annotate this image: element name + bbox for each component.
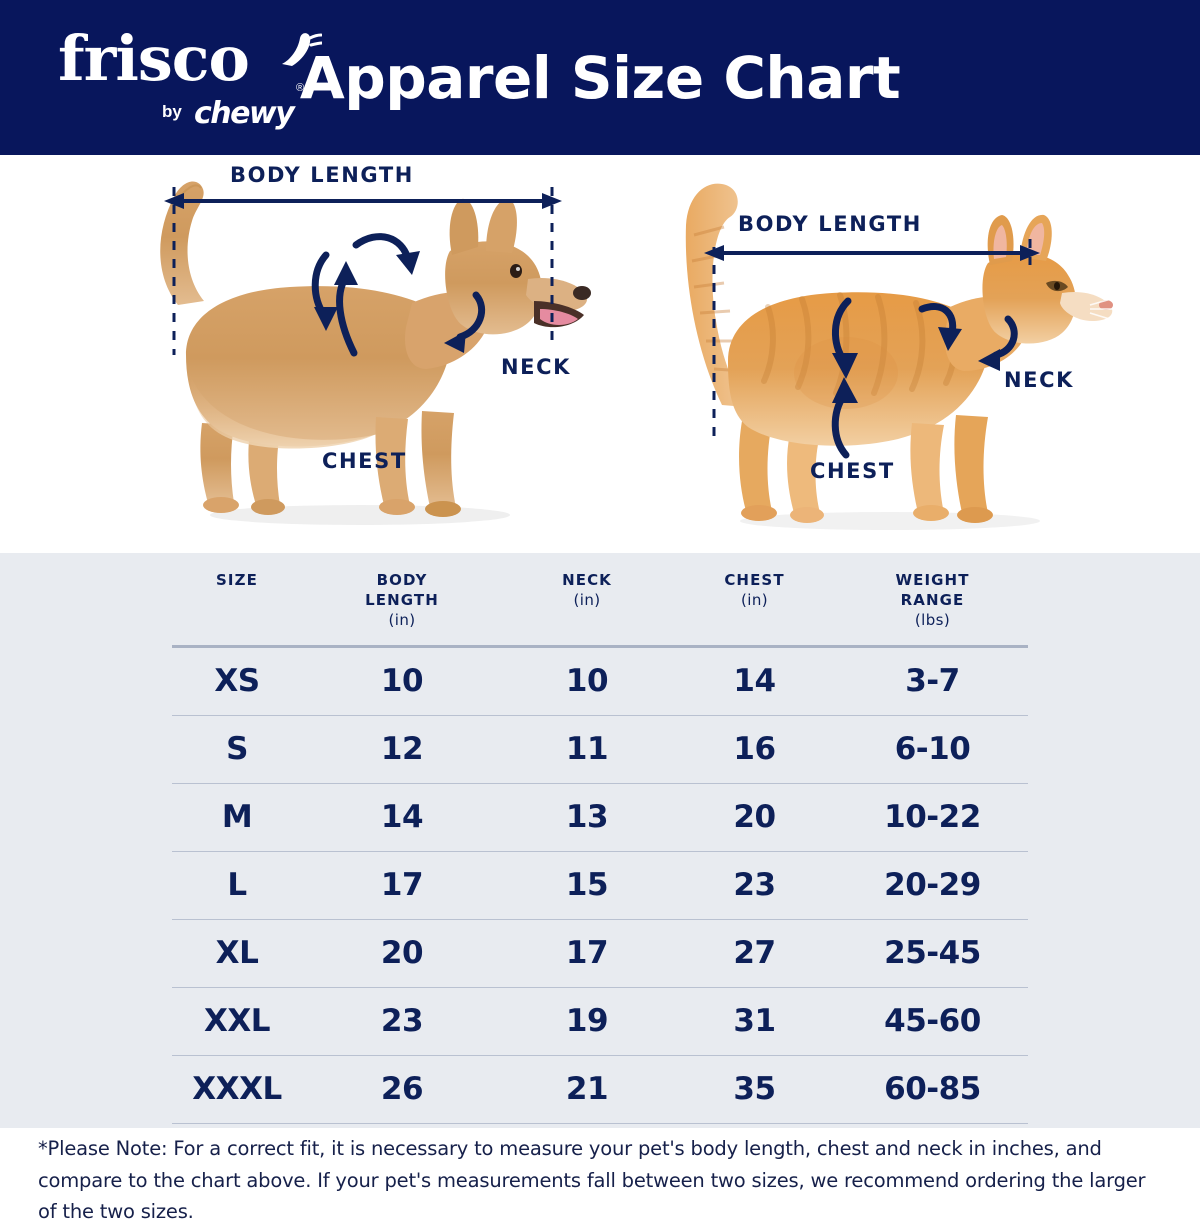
header-band: frisco ® by chewy Apparel Size Chart xyxy=(0,0,1200,155)
table-row: S 12 11 16 6-10 xyxy=(172,715,1028,783)
size-table-panel: SIZE BODY LENGTH (in) NECK (in) CHEST (i… xyxy=(0,553,1200,1128)
column-header-weight-line2: RANGE xyxy=(901,591,965,609)
column-header-chest-label: CHEST xyxy=(724,571,784,589)
cat-chest-arrow-bottom xyxy=(835,395,846,455)
cat-illustration-panel: BODY LENGTH NECK CHEST xyxy=(650,155,1120,553)
registered-trademark-icon: ® xyxy=(296,82,304,94)
dog-neck-label: NECK xyxy=(501,355,571,379)
cell-size: M xyxy=(172,783,302,851)
column-header-chest-unit: (in) xyxy=(672,591,837,611)
size-table-head: SIZE BODY LENGTH (in) NECK (in) CHEST (i… xyxy=(172,563,1028,646)
table-row: L 17 15 23 20-29 xyxy=(172,851,1028,919)
cell-neck: 21 xyxy=(502,1055,672,1123)
illustration-area: BODY LENGTH NECK CHEST xyxy=(0,155,1200,553)
table-row: M 14 13 20 10-22 xyxy=(172,783,1028,851)
cell-weight-range: 20-29 xyxy=(837,851,1028,919)
cell-body-length: 20 xyxy=(302,919,502,987)
column-header-neck-label: NECK xyxy=(562,571,612,589)
cell-size: XL xyxy=(172,919,302,987)
cell-size: XXXL xyxy=(172,1055,302,1123)
cell-neck: 11 xyxy=(502,715,672,783)
column-header-chest: CHEST (in) xyxy=(672,563,837,646)
cell-chest: 14 xyxy=(672,646,837,715)
cell-chest: 31 xyxy=(672,987,837,1055)
table-row: XXXL 26 21 35 60-85 xyxy=(172,1055,1028,1123)
cell-size: XS xyxy=(172,646,302,715)
cell-size: L xyxy=(172,851,302,919)
column-header-neck-unit: (in) xyxy=(502,591,672,611)
cell-size: XXL xyxy=(172,987,302,1055)
dog-body-length-label: BODY LENGTH xyxy=(230,163,414,187)
cell-weight-range: 10-22 xyxy=(837,783,1028,851)
cell-body-length: 10 xyxy=(302,646,502,715)
column-header-neck: NECK (in) xyxy=(502,563,672,646)
dog-illustration-panel: BODY LENGTH NECK CHEST xyxy=(130,155,600,553)
cell-weight-range: 6-10 xyxy=(837,715,1028,783)
dog-measurement-annotations xyxy=(130,155,600,553)
column-header-body-length-line1: BODY xyxy=(377,571,428,589)
frisco-logo[interactable]: frisco ® by chewy xyxy=(58,28,308,132)
size-table: SIZE BODY LENGTH (in) NECK (in) CHEST (i… xyxy=(172,563,1028,1124)
dog-chest-label: CHEST xyxy=(322,449,407,473)
cat-neck-arrow-bottom xyxy=(996,319,1014,355)
table-row: XS 10 10 14 3-7 xyxy=(172,646,1028,715)
table-row: XXL 23 19 31 45-60 xyxy=(172,987,1028,1055)
column-header-body-length-line2: LENGTH xyxy=(365,591,439,609)
cell-weight-range: 60-85 xyxy=(837,1055,1028,1123)
logo-chewy-text: chewy xyxy=(194,96,293,131)
dog-chest-arrow xyxy=(340,277,354,353)
table-header-row: SIZE BODY LENGTH (in) NECK (in) CHEST (i… xyxy=(172,563,1028,646)
cell-chest: 35 xyxy=(672,1055,837,1123)
table-row: XL 20 17 27 25-45 xyxy=(172,919,1028,987)
cell-weight-range: 25-45 xyxy=(837,919,1028,987)
cell-chest: 16 xyxy=(672,715,837,783)
dog-neck-arrow-bottom xyxy=(460,295,482,337)
cell-body-length: 12 xyxy=(302,715,502,783)
column-header-weight-range: WEIGHT RANGE (lbs) xyxy=(837,563,1028,646)
column-header-weight-unit: (lbs) xyxy=(837,611,1028,631)
cell-weight-range: 45-60 xyxy=(837,987,1028,1055)
cat-neck-label: NECK xyxy=(1004,368,1074,392)
cell-body-length: 17 xyxy=(302,851,502,919)
cell-neck: 13 xyxy=(502,783,672,851)
cell-neck: 10 xyxy=(502,646,672,715)
cell-neck: 17 xyxy=(502,919,672,987)
column-header-size-label: SIZE xyxy=(216,571,258,589)
cell-body-length: 23 xyxy=(302,987,502,1055)
cell-body-length: 14 xyxy=(302,783,502,851)
cat-chest-label: CHEST xyxy=(810,459,895,483)
cell-chest: 27 xyxy=(672,919,837,987)
logo-by-text: by xyxy=(162,102,182,122)
footnote: *Please Note: For a correct fit, it is n… xyxy=(38,1133,1166,1228)
cell-chest: 20 xyxy=(672,783,837,851)
column-header-body-length-unit: (in) xyxy=(302,611,502,631)
cat-body-length-label: BODY LENGTH xyxy=(738,212,922,236)
dog-tail-swoosh-icon xyxy=(280,30,322,70)
column-header-body-length: BODY LENGTH (in) xyxy=(302,563,502,646)
cell-chest: 23 xyxy=(672,851,837,919)
cell-weight-range: 3-7 xyxy=(837,646,1028,715)
cell-body-length: 26 xyxy=(302,1055,502,1123)
size-table-body: XS 10 10 14 3-7 S 12 11 16 6-10 M 14 13 … xyxy=(172,646,1028,1123)
cell-size: S xyxy=(172,715,302,783)
cell-neck: 19 xyxy=(502,987,672,1055)
logo-wordmark: frisco xyxy=(58,28,249,90)
cell-neck: 15 xyxy=(502,851,672,919)
column-header-weight-line1: WEIGHT xyxy=(895,571,969,589)
column-header-size: SIZE xyxy=(172,563,302,646)
cat-chest-arrow-top xyxy=(835,301,848,361)
